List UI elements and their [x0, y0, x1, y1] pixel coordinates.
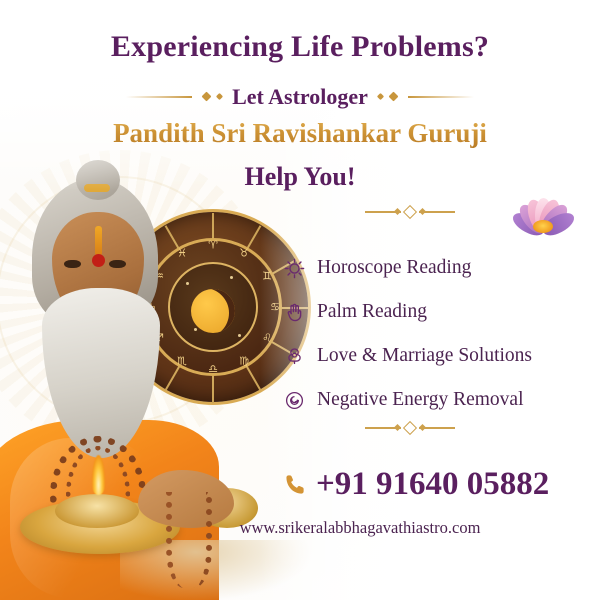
phone-contact[interactable]: +91 91640 05882 — [283, 466, 549, 503]
service-label: Negative Energy Removal — [317, 389, 524, 411]
diamond-divider-top — [365, 206, 455, 218]
subtitle-row: Let Astrologer — [0, 84, 600, 110]
service-item-negative-energy-removal[interactable]: Negative Energy Removal — [283, 378, 593, 422]
palm-hand-icon — [283, 301, 305, 323]
diamond-divider-bottom — [365, 422, 455, 434]
spiral-shell-icon — [283, 389, 305, 411]
ornament-line-right — [378, 92, 474, 102]
phone-handset-icon — [283, 472, 309, 498]
subtitle: Let Astrologer — [232, 84, 368, 110]
lotus-center — [533, 220, 553, 233]
zodiac-sun-icon — [283, 257, 305, 279]
services-list: Horoscope Reading Palm Reading — [283, 246, 593, 422]
service-label: Horoscope Reading — [317, 257, 471, 279]
service-item-love-marriage-solutions[interactable]: Love & Marriage Solutions — [283, 334, 593, 378]
service-label: Love & Marriage Solutions — [317, 345, 532, 367]
service-label: Palm Reading — [317, 301, 427, 323]
rose-flower-icon — [283, 345, 305, 367]
service-item-palm-reading[interactable]: Palm Reading — [283, 290, 593, 334]
poster-canvas: ♈ ♉ ♊ ♋ ♌ ♍ ♎ ♏ ♐ ♑ ♒ ♓ — [0, 0, 600, 600]
page-title: Experiencing Life Problems? — [0, 30, 600, 64]
lotus-flower — [500, 182, 586, 242]
astrologer-name: Pandith Sri Ravishankar Guruji — [0, 118, 600, 149]
ornament-line-left — [126, 92, 222, 102]
phone-number: +91 91640 05882 — [316, 466, 549, 503]
service-item-horoscope-reading[interactable]: Horoscope Reading — [283, 246, 593, 290]
website-url[interactable]: www.srikeralabbhagavathiastro.com — [0, 518, 600, 538]
